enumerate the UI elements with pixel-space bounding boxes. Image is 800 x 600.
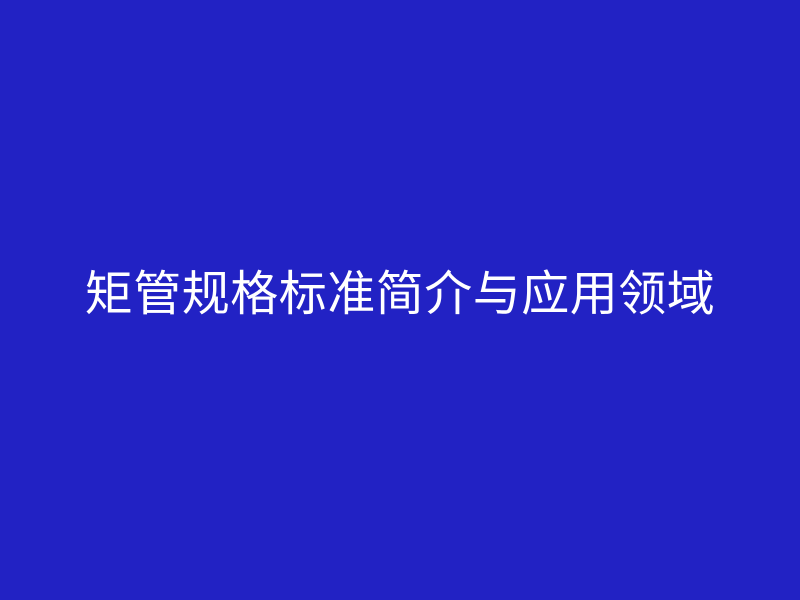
title-slide: 矩管规格标准简介与应用领域 [0,0,800,600]
slide-title: 矩管规格标准简介与应用领域 [85,269,716,321]
title-block: 矩管规格标准简介与应用领域 [0,269,800,321]
